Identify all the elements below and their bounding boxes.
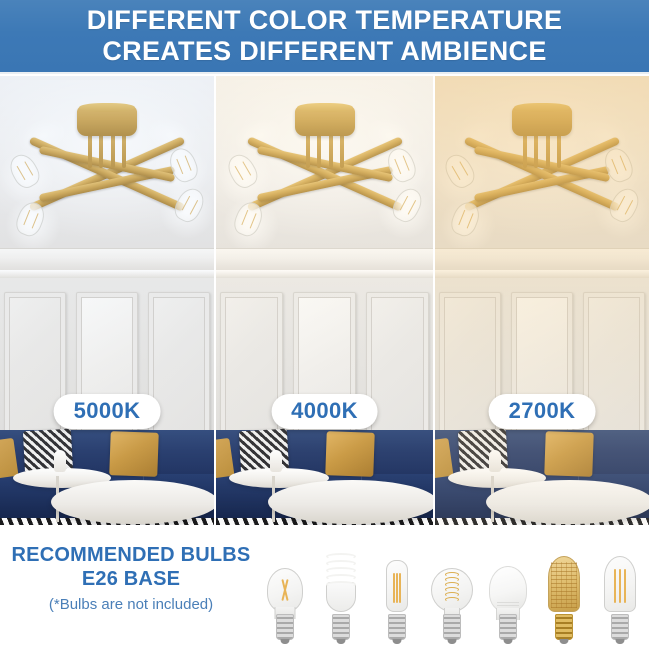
frosted-led-bulb (483, 532, 533, 642)
recommended-title-line-2: E26 BASE (8, 567, 254, 591)
fixture-canopy (295, 106, 355, 136)
recommended-bulbs-text: RECOMMENDED BULBS E26 BASE (*Bulbs are n… (8, 543, 254, 616)
bulb-label-print (497, 602, 519, 608)
fixture-canopy (512, 106, 572, 136)
panel-5000k: 5000K (0, 76, 214, 525)
fixture-canopy (77, 106, 137, 136)
bulb-glass (386, 560, 408, 612)
temperature-badge-5000k: 5000K (54, 394, 161, 429)
color-temperature-comparison: 5000K (0, 76, 649, 525)
vase (270, 450, 282, 472)
ceiling-light-fixture (16, 106, 198, 234)
e26-base (332, 614, 350, 640)
headline-line-1: DIFFERENT COLOR TEMPERATURE (87, 5, 563, 36)
bulb-type-row (256, 531, 649, 646)
temperature-badge-4000k: 4000K (271, 394, 378, 429)
ceiling-light-fixture (451, 106, 633, 234)
e26-base (611, 614, 629, 640)
temperature-label: 4000K (291, 399, 358, 423)
headline-line-2: CREATES DIFFERENT AMBIENCE (102, 36, 546, 67)
a19-filament-bulb (260, 532, 310, 642)
recommended-note: (*Bulbs are not included) (8, 594, 254, 616)
e26-base (499, 614, 517, 640)
recommended-bulbs-section: RECOMMENDED BULBS E26 BASE (*Bulbs are n… (0, 525, 649, 646)
header-banner: DIFFERENT COLOR TEMPERATURE CREATES DIFF… (0, 0, 649, 74)
temperature-label: 2700K (509, 399, 576, 423)
temperature-badge-2700k: 2700K (489, 394, 596, 429)
fixture-stem (88, 132, 126, 168)
edison-st64-amber-bulb (539, 532, 589, 642)
product-infographic: DIFFERENT COLOR TEMPERATURE CREATES DIFF… (0, 0, 649, 646)
e26-base (555, 614, 573, 640)
coffee-table (268, 480, 433, 524)
fixture-stem (523, 132, 561, 168)
e26-base (443, 614, 461, 640)
temperature-label: 5000K (74, 399, 141, 423)
cage-filament (551, 562, 577, 608)
coffee-table (51, 480, 214, 524)
throw-pillow (544, 431, 594, 477)
panel-4000k: 4000K (216, 76, 433, 525)
vase (489, 450, 501, 472)
recommended-title-line-1: RECOMMENDED BULBS (8, 543, 254, 567)
e26-base (276, 614, 294, 640)
bulb-glass (267, 568, 303, 612)
panel-2700k: 2700K (435, 76, 649, 525)
coffee-table (486, 480, 649, 524)
fixture-stem (306, 132, 344, 168)
ceiling-light-fixture (234, 106, 416, 234)
vase (54, 450, 66, 472)
cfl-spiral-tube (326, 548, 356, 588)
spiral-filament (445, 572, 459, 602)
cfl-spiral-bulb (316, 532, 366, 642)
e26-base (388, 614, 406, 640)
bulb-glass (604, 556, 636, 612)
throw-pillow (325, 431, 375, 477)
throw-pillow (109, 431, 159, 477)
st64-clear-filament-bulb (595, 532, 645, 642)
globe-filament-bulb (427, 532, 477, 642)
tubular-filament-bulb (372, 532, 422, 642)
